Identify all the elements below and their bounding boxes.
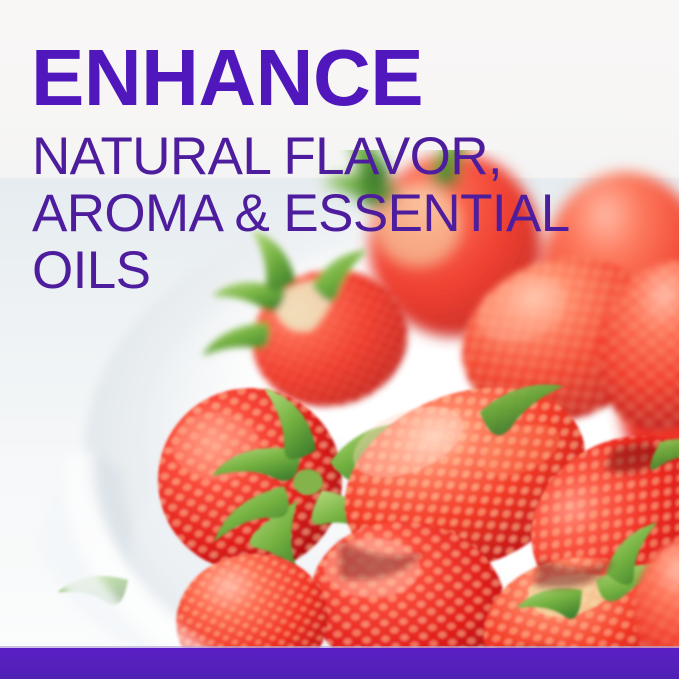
promo-banner: ENHANCE NATURAL FLAVOR, AROMA & ESSENTIA…: [0, 0, 679, 679]
bottom-accent-bar: [0, 648, 679, 679]
subheading: NATURAL FLAVOR, AROMA & ESSENTIAL OILS: [32, 128, 591, 299]
page-title: ENHANCE: [31, 38, 591, 118]
headline-block: ENHANCE NATURAL FLAVOR, AROMA & ESSENTIA…: [31, 38, 591, 299]
subheading-line-2: AROMA & ESSENTIAL: [32, 185, 591, 242]
subheading-line-1: NATURAL FLAVOR,: [32, 128, 591, 185]
subheading-line-3: OILS: [32, 242, 591, 299]
